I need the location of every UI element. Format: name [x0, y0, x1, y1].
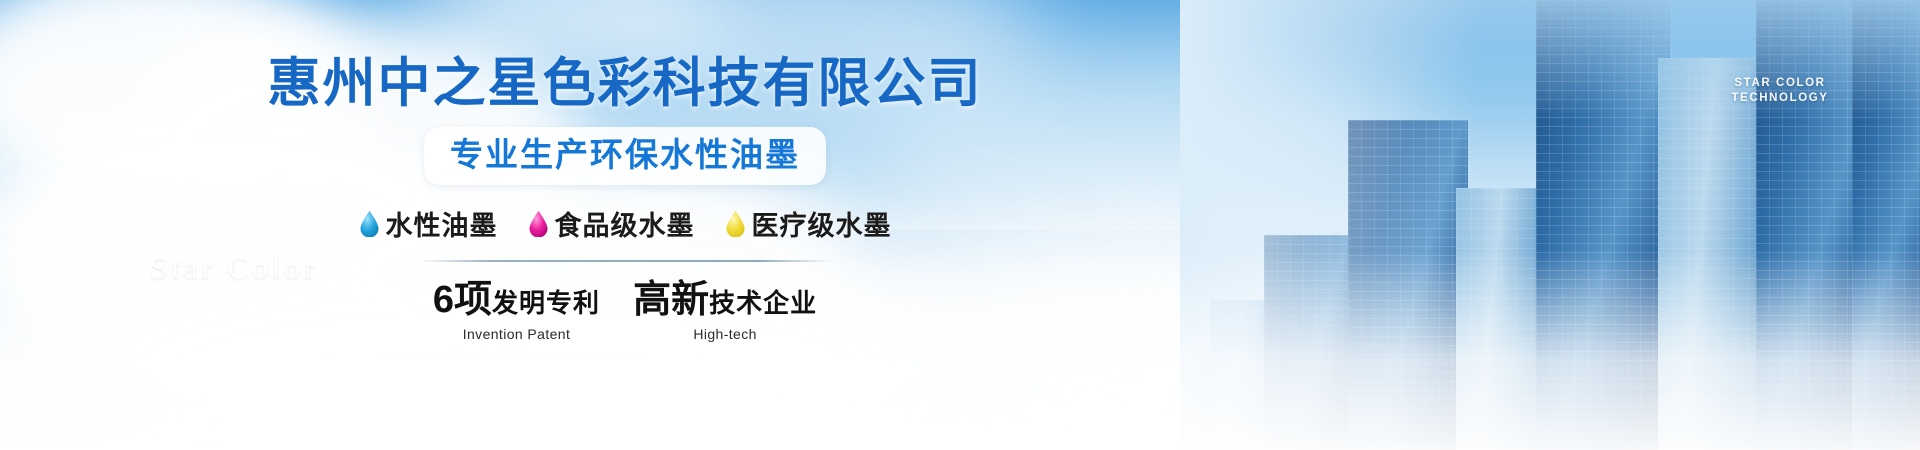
feature-label: 食品级水墨 [555, 204, 695, 243]
water-drop-icon [528, 210, 549, 237]
badge-invention-patent: 6项 发明专利 Invention Patent [433, 281, 600, 342]
brand-en-line1: STAR COLOR [1714, 76, 1846, 91]
subtitle-text: 专业生产环保水性油墨 [450, 136, 800, 174]
section-divider [418, 260, 833, 262]
subtitle-pill: 专业生产环保水性油墨 [424, 127, 826, 185]
badge-english-label: Invention Patent [463, 326, 571, 342]
credential-badges: 6项 发明专利 Invention Patent 高新 技术企业 High-te… [433, 281, 817, 342]
badge-subtext: 发明专利 [492, 290, 600, 316]
badge-highlight: 高新 [633, 281, 709, 319]
company-title: 惠州中之星色彩科技有限公司 [268, 57, 983, 110]
feature-label: 水性油墨 [386, 204, 498, 243]
water-drop-icon [725, 210, 746, 237]
water-drop-icon [359, 210, 380, 237]
badge-chinese-line: 高新 技术企业 [633, 281, 817, 319]
brand-english-mark: STAR COLOR TECHNOLOGY [1714, 76, 1846, 106]
feature-list: 水性油墨 食品级水墨 [359, 204, 892, 243]
badge-high-tech: 高新 技术企业 High-tech [633, 281, 817, 342]
promo-banner: Star Color STAR COLOR TECHNOLOGY 惠州中之星色彩… [0, 0, 1920, 450]
feature-item: 医疗级水墨 [725, 204, 892, 243]
feature-label: 医疗级水墨 [752, 204, 892, 243]
feature-item: 水性油墨 [359, 204, 498, 243]
badge-highlight: 6项 [433, 281, 492, 319]
badge-chinese-line: 6项 发明专利 [433, 281, 600, 319]
banner-content: 惠州中之星色彩科技有限公司 专业生产环保水性油墨 水性油墨 [0, 0, 1250, 450]
feature-item: 食品级水墨 [528, 204, 695, 243]
badge-english-label: High-tech [693, 326, 757, 342]
badge-subtext: 技术企业 [709, 290, 817, 316]
brand-en-line2: TECHNOLOGY [1714, 91, 1846, 106]
